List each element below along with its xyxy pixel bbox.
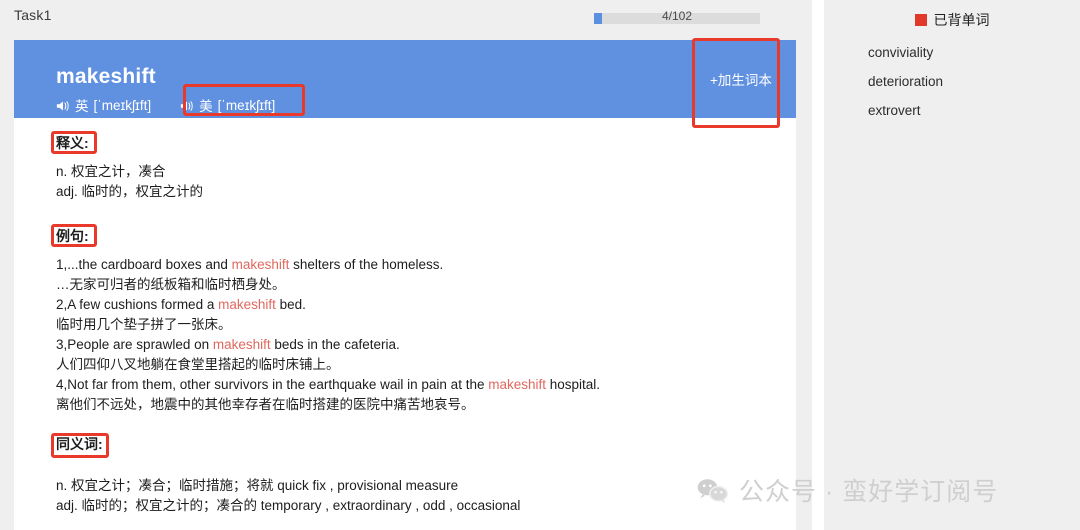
synonyms-heading: 同义词:	[56, 436, 103, 453]
pronunciation-us-region: 美	[199, 95, 213, 115]
definition-heading: 释义:	[56, 135, 89, 152]
sidebar-word-item[interactable]: conviviality	[868, 38, 1078, 67]
example-sentence-en: 2,A few cushions formed a makeshift bed.	[56, 295, 600, 315]
speaker-icon[interactable]	[180, 99, 194, 113]
app-root: Task1 4/102 makeshift	[0, 0, 1080, 530]
pronunciation-uk-region: 英	[75, 95, 89, 115]
examples-heading: 例句:	[56, 228, 89, 245]
examples-list: 1,...the cardboard boxes and makeshift s…	[56, 255, 600, 415]
main-content-area: Task1 4/102 makeshift	[0, 0, 812, 530]
example-text: bed.	[276, 297, 306, 312]
example-text: 2,A few cushions formed a	[56, 297, 218, 312]
progress-bar[interactable]: 4/102	[594, 13, 760, 24]
example-sentence-cn: 离他们不远处，地震中的其他幸存者在临时搭建的医院中痛苦地哀号。	[56, 395, 600, 415]
synonyms-section: 同义词: n. 权宜之计；凑合；临时措施；将就 quick fix , prov…	[56, 436, 520, 516]
top-bar: Task1 4/102	[0, 0, 812, 30]
status-swatch-icon	[915, 14, 927, 26]
example-text: hospital.	[546, 377, 600, 392]
synonyms-line: n. 权宜之计；凑合；临时措施；将就 quick fix , provision…	[56, 476, 520, 496]
task-label: Task1	[14, 7, 52, 23]
example-sentence-cn: 临时用几个垫子拼了一张床。	[56, 315, 600, 335]
examples-section: 例句: 1,...the cardboard boxes and makeshi…	[56, 228, 600, 415]
example-text: 3,People are sprawled on	[56, 337, 213, 352]
memorized-words-sidebar: 已背单词 convivialitydeteriorationextrovert	[824, 0, 1080, 530]
example-text: beds in the cafeteria.	[271, 337, 400, 352]
synonyms-line: adj. 临时的；权宜之计的；凑合的 temporary , extraordi…	[56, 496, 520, 516]
pronunciation-uk-ipa: [ˈmeɪkʃɪft]	[94, 98, 152, 113]
pronunciation-us-ipa: [ˈmeɪkʃɪft]	[218, 98, 276, 113]
example-sentence-en: 1,...the cardboard boxes and makeshift s…	[56, 255, 600, 275]
example-sentence-cn: …无家可归者的纸板箱和临时栖身处。	[56, 275, 600, 295]
pronunciation-row: 英 [ˈmeɪkʃɪft] 美 [ˈmeɪkʃɪft]	[56, 95, 275, 115]
pronunciation-us[interactable]: 美 [ˈmeɪkʃɪft]	[180, 95, 275, 115]
word-header: makeshift 英 [ˈmeɪkʃɪft]	[14, 40, 796, 118]
example-text: 4,Not far from them, other survivors in …	[56, 377, 488, 392]
definition-line: adj. 临时的，权宜之计的	[56, 182, 203, 202]
speaker-icon[interactable]	[56, 99, 70, 113]
sidebar-title-row: 已背单词	[824, 10, 1080, 30]
example-keyword: makeshift	[218, 297, 276, 312]
word-card: makeshift 英 [ˈmeɪkʃɪft]	[14, 40, 796, 530]
example-keyword: makeshift	[213, 337, 271, 352]
definition-section: 释义: n. 权宜之计，凑合 adj. 临时的，权宜之计的	[56, 135, 203, 202]
panel-divider	[812, 0, 824, 530]
sidebar-word-list: convivialitydeteriorationextrovert	[868, 38, 1078, 125]
word-title: makeshift	[56, 65, 156, 89]
example-text: 1,...the cardboard boxes and	[56, 257, 232, 272]
sidebar-title: 已背单词	[934, 10, 990, 30]
example-sentence-en: 4,Not far from them, other survivors in …	[56, 375, 600, 395]
example-sentence-cn: 人们四仰八叉地躺在食堂里搭起的临时床铺上。	[56, 355, 600, 375]
example-text: shelters of the homeless.	[289, 257, 443, 272]
sidebar-word-item[interactable]: deterioration	[868, 67, 1078, 96]
example-keyword: makeshift	[488, 377, 546, 392]
pronunciation-uk[interactable]: 英 [ˈmeɪkʃɪft]	[56, 95, 151, 115]
add-to-wordbook-button[interactable]: +加生词本	[698, 49, 784, 109]
definition-line: n. 权宜之计，凑合	[56, 162, 203, 182]
example-keyword: makeshift	[232, 257, 290, 272]
example-sentence-en: 3,People are sprawled on makeshift beds …	[56, 335, 600, 355]
progress-text: 4/102	[594, 9, 760, 23]
sidebar-word-item[interactable]: extrovert	[868, 96, 1078, 125]
